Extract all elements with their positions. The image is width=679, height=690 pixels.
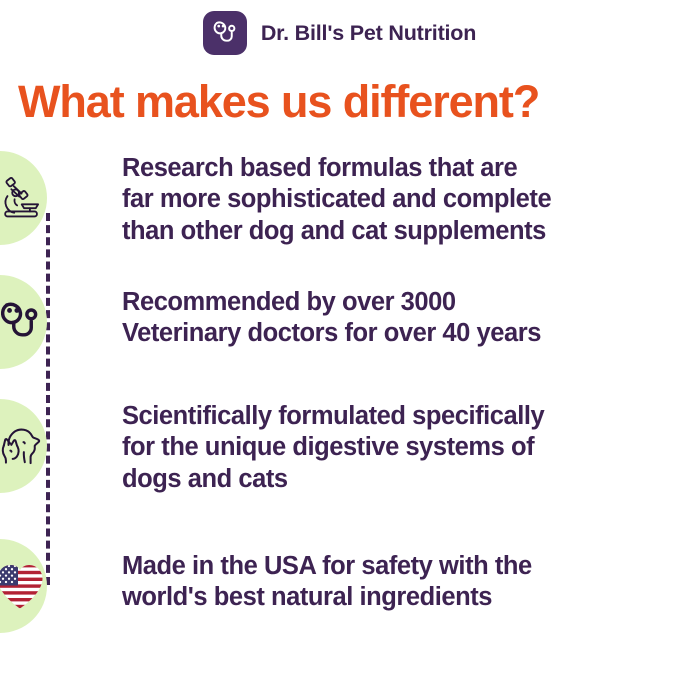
list-item-label: Made in the USA for safety with the worl… bbox=[122, 551, 532, 614]
list-item: Made in the USA for safety with the worl… bbox=[0, 539, 679, 663]
list-item-label: Recommended by over 3000 Veterinary doct… bbox=[122, 287, 541, 350]
brand-header: Dr. Bill's Pet Nutrition bbox=[0, 0, 679, 57]
brand-name: Dr. Bill's Pet Nutrition bbox=[261, 21, 476, 46]
list-item-label: Research based formulas that are far mor… bbox=[122, 153, 551, 247]
dog-and-cat-icon bbox=[0, 399, 47, 493]
usa-flag-heart-icon bbox=[0, 539, 47, 633]
microscope-icon bbox=[0, 151, 47, 245]
list-item-label: Scientifically formulated specifically f… bbox=[122, 401, 544, 495]
pet-stethoscope-icon bbox=[203, 11, 247, 55]
page-title: What makes us different? bbox=[18, 79, 679, 124]
pet-stethoscope-icon bbox=[0, 275, 47, 369]
list-item: Research based formulas that are far mor… bbox=[0, 151, 679, 275]
feature-list: Research based formulas that are far mor… bbox=[0, 151, 679, 663]
list-item: Recommended by over 3000 Veterinary doct… bbox=[0, 275, 679, 399]
list-item: Scientifically formulated specifically f… bbox=[0, 399, 679, 539]
